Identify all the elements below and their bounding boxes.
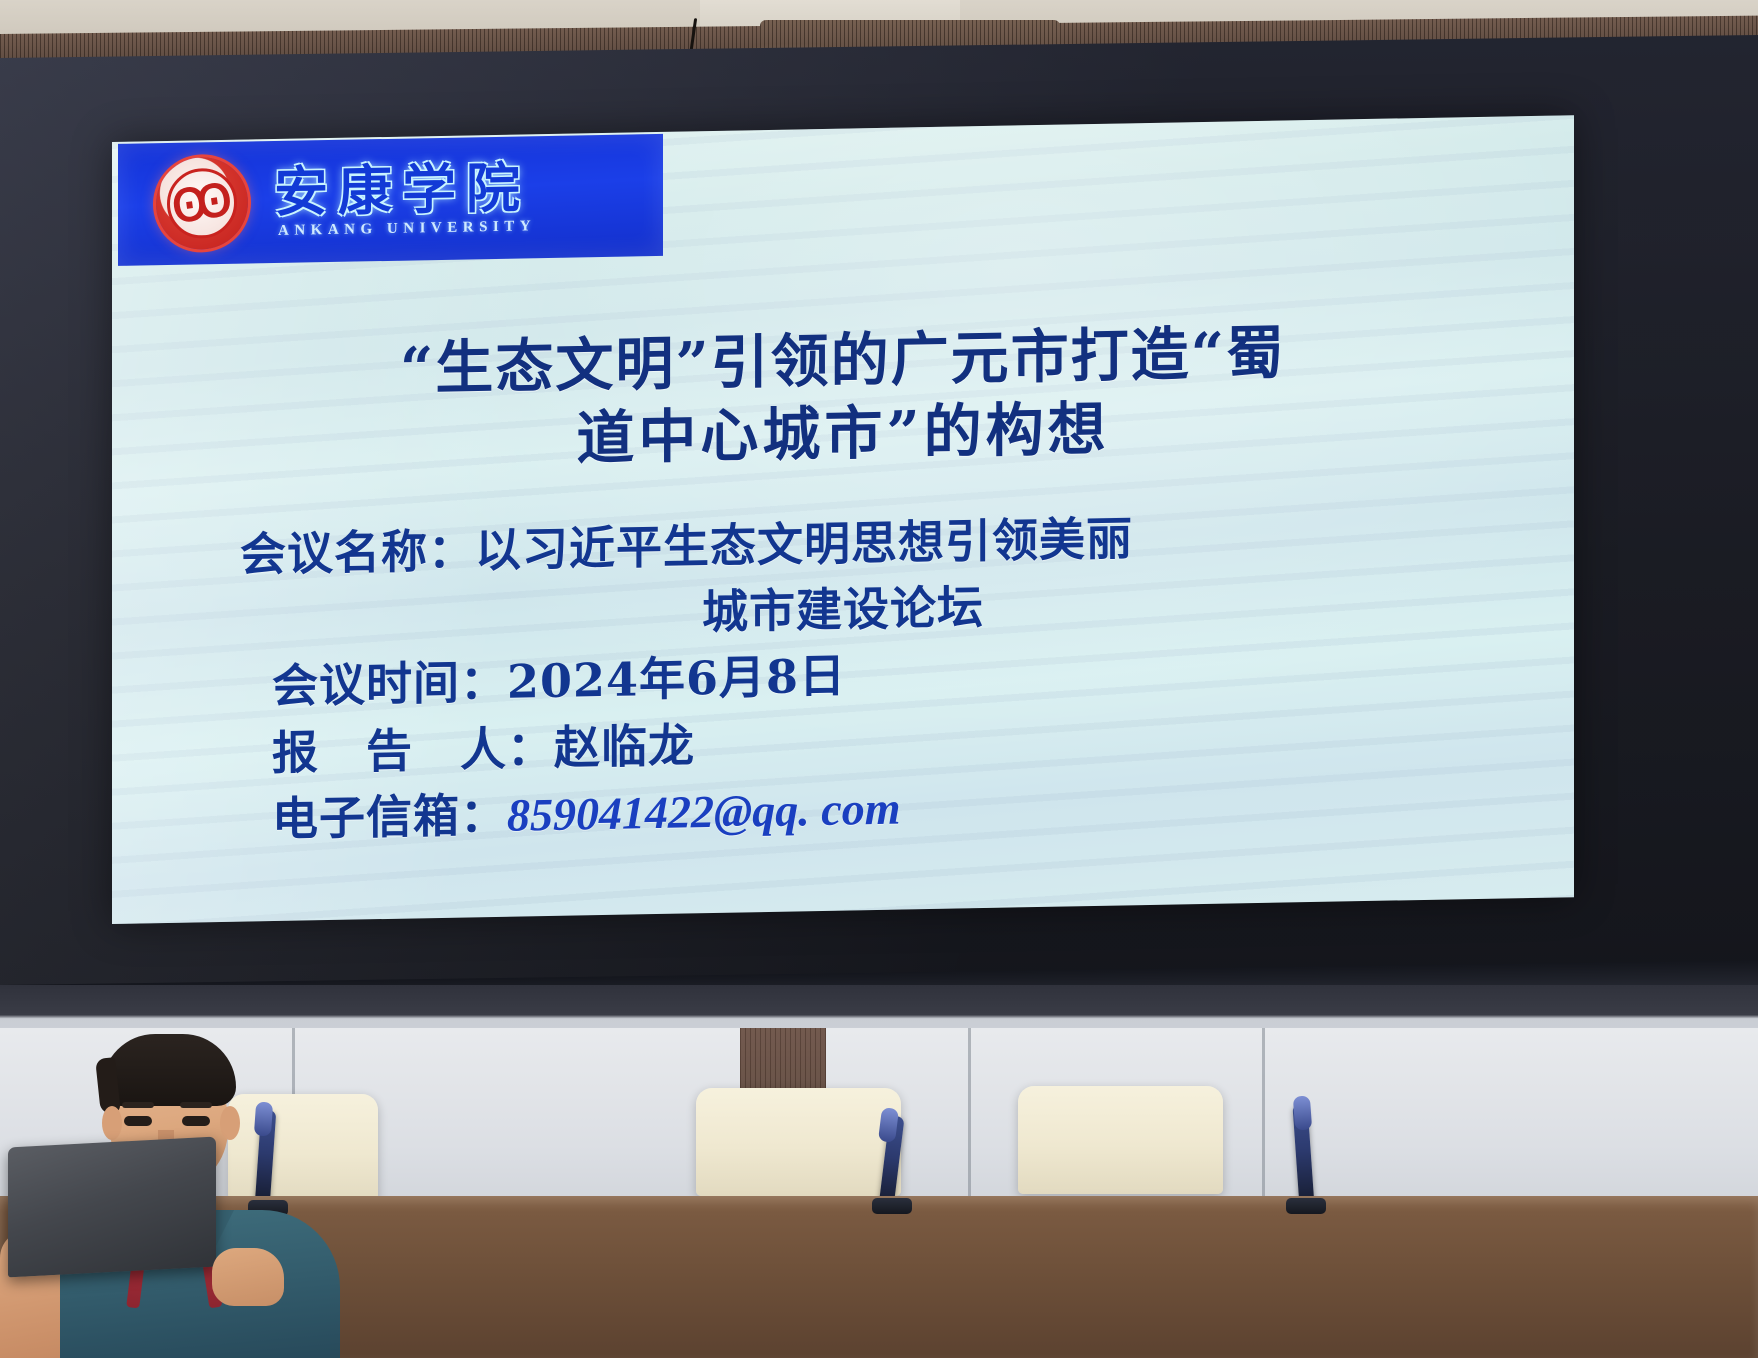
presenter-eye-right xyxy=(182,1116,210,1126)
microphone-center-base xyxy=(872,1198,912,1214)
presenter-brow-left xyxy=(122,1102,154,1108)
chair-left xyxy=(696,1088,901,1196)
meeting-name-value-line-2: 城市建设论坛 xyxy=(702,580,984,639)
presenter-hair xyxy=(102,1034,236,1106)
email-value: 859041422@qq. com xyxy=(507,782,900,840)
wall-seam-3 xyxy=(1262,1028,1265,1223)
meeting-time-value: 2024年6月8日 xyxy=(507,649,846,709)
presenter-eye-left xyxy=(124,1116,152,1126)
university-name-en: ANKANG UNIVERSITY xyxy=(278,218,536,240)
presenter-hand xyxy=(212,1248,284,1306)
presenter-brow-right xyxy=(180,1102,212,1108)
meeting-name-value-line-1: 以习近平生态文明思想引领美丽 xyxy=(475,511,1133,577)
speaker-value: 赵临龙 xyxy=(554,718,695,775)
presentation-slide: 安康学院 ANKANG UNIVERSITY “生态文明”引领的广元市打造“蜀 … xyxy=(112,115,1574,924)
university-name-cn: 安康学院 xyxy=(274,160,536,221)
laptop xyxy=(8,1137,216,1278)
logo-text-group: 安康学院 ANKANG UNIVERSITY xyxy=(274,160,536,240)
speaker-label: 报 告 人： xyxy=(272,721,554,780)
microphone-right-base xyxy=(1286,1198,1326,1214)
microphone-right-tip xyxy=(1293,1095,1312,1130)
chair-right xyxy=(1018,1086,1223,1194)
email-label: 电子信箱： xyxy=(272,788,507,846)
meeting-name-label: 会议名称： xyxy=(240,523,475,581)
university-logo-banner: 安康学院 ANKANG UNIVERSITY xyxy=(118,134,663,266)
university-seal-icon xyxy=(156,157,248,251)
slide-title: “生态文明”引领的广元市打造“蜀 道中心城市”的构想 xyxy=(112,311,1574,484)
wall-seam-2 xyxy=(968,1028,971,1223)
meeting-time-label: 会议时间： xyxy=(272,655,507,713)
presenter-ear-left xyxy=(102,1106,122,1140)
conference-room-scene: 安康学院 ANKANG UNIVERSITY “生态文明”引领的广元市打造“蜀 … xyxy=(0,0,1758,1358)
slide-info-block: 会议名称：以习近平生态文明思想引领美丽 城市建设论坛 会议时间：2024年6月8… xyxy=(112,497,1574,856)
presenter-ear-right xyxy=(220,1106,240,1140)
